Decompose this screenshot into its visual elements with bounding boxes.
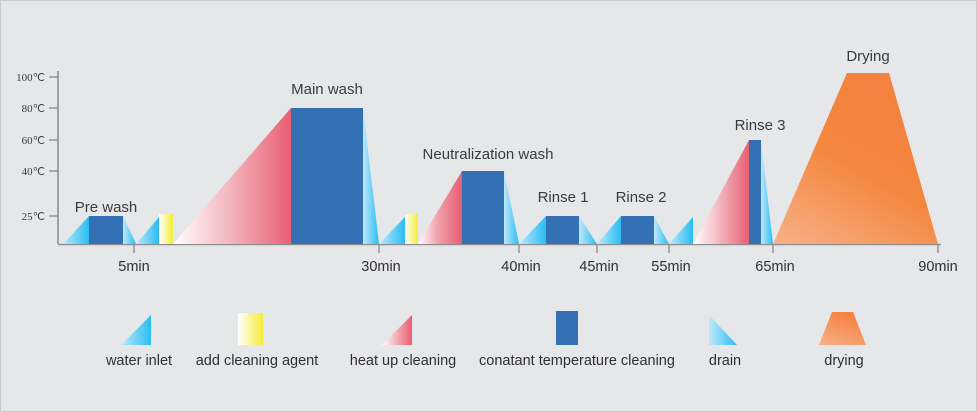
x-axis: 5min 30min 40min 45min 55min 65min 90min (58, 244, 958, 275)
phase-rinse-2 (597, 216, 669, 244)
phase-main-wash (136, 108, 379, 244)
phase-label-drying: Drying (846, 48, 889, 65)
add-cleaning-agent-shape (159, 214, 173, 244)
drain-shape (761, 140, 773, 244)
legend-item-water-inlet: water inlet (105, 315, 172, 369)
add-cleaning-agent-shape (405, 214, 418, 244)
x-tick-label-45min: 45min (579, 259, 619, 275)
constant-temperature-shape (89, 216, 123, 244)
x-tick-label-30min: 30min (361, 259, 401, 275)
phase-rinse-1 (519, 216, 597, 244)
y-tick-label-40: 40℃ (22, 166, 45, 178)
water-inlet-shape (519, 216, 546, 244)
drain-shape (504, 171, 519, 244)
water-inlet-shape (597, 216, 621, 244)
drying-icon (819, 312, 866, 345)
constant-temperature-shape (462, 171, 504, 244)
drain-shape (654, 216, 669, 244)
legend-item-drain: drain (709, 315, 741, 369)
y-tick-label-60: 60℃ (22, 135, 45, 147)
constant-temperature-shape (546, 216, 579, 244)
legend-label-drying: drying (824, 353, 864, 369)
x-tick-label-55min: 55min (651, 259, 691, 275)
x-tick-label-5min: 5min (118, 259, 149, 275)
water-inlet-shape (669, 217, 693, 244)
legend-item-heat-up-cleaning: heat up cleaning (350, 315, 456, 369)
legend-label-add-cleaning-agent: add cleaning agent (196, 353, 319, 369)
legend-item-add-cleaning-agent: add cleaning agent (196, 313, 319, 369)
water-inlet-shape (136, 217, 159, 244)
drain-shape (579, 216, 597, 244)
legend-label-constant-temperature-cleaning: conatant temperature cleaning (479, 353, 675, 369)
water-inlet-shape (379, 217, 405, 244)
phase-label-rinse-2: Rinse 2 (616, 189, 667, 206)
phase-drying (773, 73, 938, 244)
drain-shape (363, 108, 379, 244)
phase-rinse-3 (669, 140, 773, 244)
constant-temperature-shape (621, 216, 654, 244)
drying-shape (773, 73, 938, 244)
y-tick-label-80: 80℃ (22, 103, 45, 115)
phase-label-rinse-1: Rinse 1 (538, 189, 589, 206)
constant-temperature-shape (291, 108, 363, 244)
y-axis: 100℃ 80℃ 60℃ 40℃ 25℃ (16, 71, 58, 244)
heat-up-cleaning-icon (382, 315, 412, 345)
x-tick-label-40min: 40min (501, 259, 541, 275)
phase-label-pre-wash: Pre wash (75, 199, 138, 216)
x-tick-label-65min: 65min (755, 259, 795, 275)
heat-up-shape (693, 140, 749, 244)
water-inlet-shape (63, 216, 89, 244)
legend-label-drain: drain (709, 353, 741, 369)
legend-item-constant-temperature-cleaning: conatant temperature cleaning (479, 311, 675, 369)
heat-up-shape (173, 108, 291, 244)
x-tick-label-90min: 90min (918, 259, 958, 275)
phase-pre-wash (63, 216, 136, 244)
chart-legend: water inlet add cleaning agent heat up c… (105, 311, 866, 369)
legend-item-drying: drying (819, 312, 866, 369)
chart-svg: 100℃ 80℃ 60℃ 40℃ 25℃ 5min 30min 40min 45… (1, 1, 976, 411)
constant-temperature-shape (749, 140, 761, 244)
drain-icon (709, 315, 737, 345)
constant-temperature-cleaning-icon (556, 311, 578, 345)
phase-neutralization-wash (379, 171, 519, 244)
dishwasher-cycle-chart: 100℃ 80℃ 60℃ 40℃ 25℃ 5min 30min 40min 45… (1, 1, 976, 411)
drain-shape (123, 216, 136, 244)
phase-label-neutralization-wash: Neutralization wash (423, 146, 554, 163)
water-inlet-icon (121, 315, 151, 345)
phase-label-main-wash: Main wash (291, 81, 363, 98)
legend-label-heat-up-cleaning: heat up cleaning (350, 353, 456, 369)
y-tick-label-100: 100℃ (16, 72, 45, 84)
add-cleaning-agent-icon (238, 313, 263, 345)
legend-label-water-inlet: water inlet (105, 353, 172, 369)
y-tick-label-25: 25℃ (22, 211, 45, 223)
heat-up-shape (418, 171, 462, 244)
phase-label-rinse-3: Rinse 3 (735, 117, 786, 134)
